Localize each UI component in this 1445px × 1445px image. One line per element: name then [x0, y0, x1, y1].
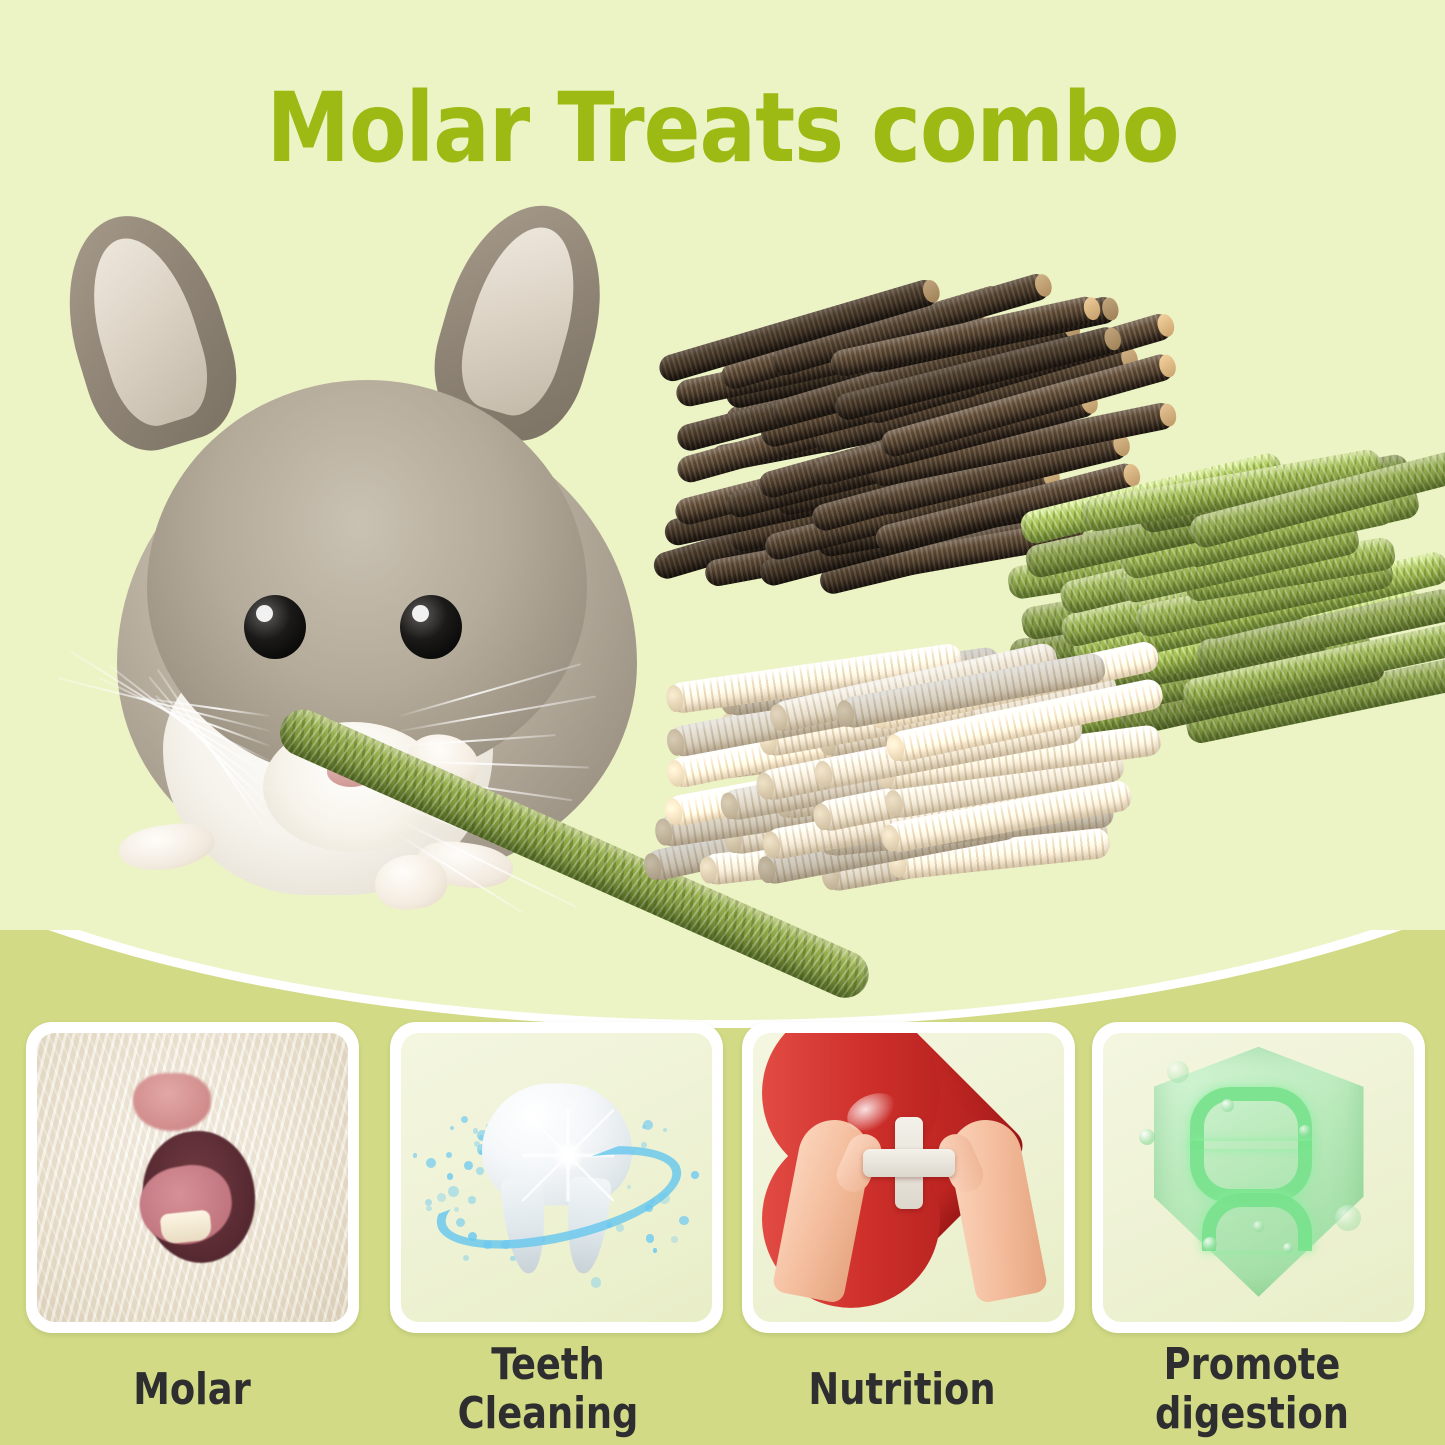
feature-card-row [0, 1022, 1445, 1337]
hands-holding-heart-icon [784, 1057, 1034, 1287]
sparkle-dot [426, 1206, 432, 1212]
bubble [1335, 1205, 1361, 1231]
feature-label-teeth-cleaning: Teeth Cleaning [384, 1340, 711, 1438]
product-infographic: Molar Treats combo [0, 0, 1445, 1445]
sparkle-dot [691, 1171, 699, 1179]
feature-label-molar: Molar [28, 1365, 355, 1414]
sparkle-dot [663, 1128, 667, 1132]
feature-label-promote-digestion: Promote digestion [1088, 1340, 1415, 1438]
sparkle-dot [413, 1153, 418, 1158]
sparkle-dot [463, 1255, 469, 1261]
chinchilla-head [147, 380, 587, 780]
feature-card-molar[interactable] [26, 1022, 359, 1333]
bubble [1283, 1243, 1293, 1253]
sparkle-dot [448, 1186, 459, 1197]
sparkle-dot [461, 1116, 468, 1123]
cross-horizontal-bar [863, 1149, 955, 1177]
feature-card-promote-digestion-image [1103, 1033, 1414, 1322]
feature-label-teeth-cleaning-line2: Cleaning [384, 1389, 711, 1438]
bubble [1139, 1129, 1155, 1145]
sparkling-tooth-icon [482, 1083, 632, 1265]
feature-card-nutrition[interactable] [742, 1022, 1075, 1333]
feature-card-teeth-cleaning-image [401, 1033, 712, 1322]
digestion-shield-icon [1154, 1047, 1364, 1297]
page-title: Molar Treats combo [22, 72, 1424, 184]
chinchilla-eye-right [400, 595, 462, 659]
feature-label-teeth-cleaning-line1: Teeth [384, 1340, 711, 1389]
sparkle-dot [437, 1193, 446, 1202]
bubble [1299, 1125, 1311, 1137]
sparkle-dot [643, 1120, 653, 1130]
feature-card-promote-digestion[interactable] [1092, 1022, 1425, 1333]
chinchilla-ear-inner-left [73, 225, 220, 435]
chinchilla-ear-left [42, 196, 254, 465]
sparkle-dot [653, 1248, 658, 1253]
intestine-coil [1190, 1087, 1312, 1149]
chinchilla-ear-inner-right [449, 215, 594, 424]
sparkle-dot [646, 1234, 655, 1243]
feature-card-teeth-cleaning[interactable] [390, 1022, 723, 1333]
bubble [1167, 1061, 1189, 1083]
sparkle-dot [426, 1158, 436, 1168]
sparkle-dot [446, 1152, 452, 1158]
medical-cross-icon [863, 1117, 955, 1209]
chinchilla-foot-left [116, 819, 217, 876]
feature-label-promote-digestion-line1: Promote [1088, 1340, 1415, 1389]
sparkle-dot [450, 1126, 454, 1130]
bubble [1221, 1099, 1234, 1112]
sparkle-dot [591, 1277, 602, 1288]
sparkle-dot [447, 1173, 453, 1179]
feature-card-nutrition-image [753, 1033, 1064, 1322]
bubble [1203, 1237, 1217, 1251]
bubble [1253, 1221, 1264, 1232]
feature-label-nutrition: Nutrition [738, 1365, 1065, 1414]
feature-label-promote-digestion-line2: digestion [1088, 1389, 1415, 1438]
sparkle-dot [679, 1216, 689, 1226]
feature-label-row: Molar Teeth Cleaning Nutrition Promote d… [0, 1336, 1445, 1445]
sparkle-dot [671, 1236, 678, 1243]
chinchilla-eye-left [244, 595, 306, 659]
sparkle-dot [464, 1161, 473, 1170]
feature-card-molar-image [37, 1033, 348, 1322]
